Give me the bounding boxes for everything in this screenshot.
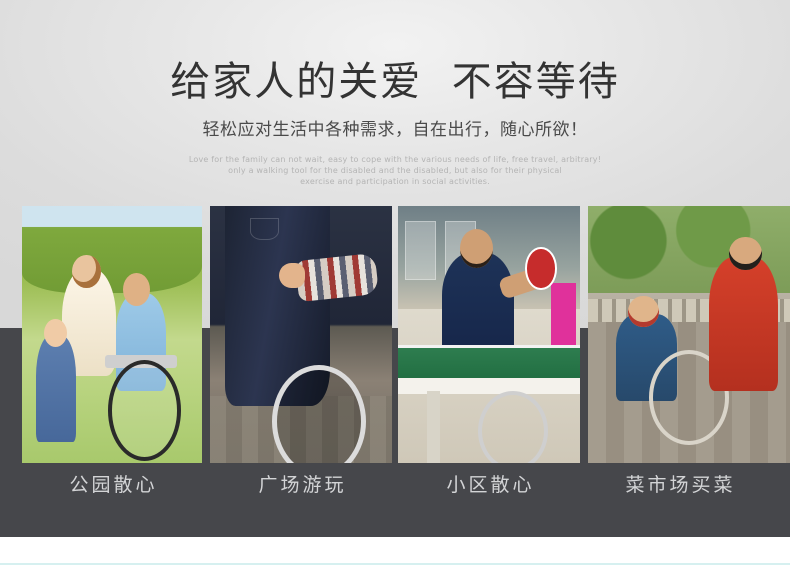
community-wheelchair-wheel [478, 391, 548, 463]
photo-plaza-helping-hand [210, 206, 392, 463]
banner-subtitle: 轻松应对生活中各种需求，自在出行，随心所欲！ [0, 106, 790, 142]
gallery-photo-plaza[interactable] [210, 206, 392, 463]
market-red-jacket-body [709, 257, 778, 391]
banner-english-description: Love for the family can not wait, easy t… [185, 142, 605, 187]
photo-park-family-wheelchair [22, 206, 202, 463]
caption-market: 菜市场买菜 [588, 471, 770, 499]
table-tennis-edge [398, 378, 580, 393]
table-leg [427, 391, 440, 463]
gallery-photo-market[interactable] [588, 206, 790, 463]
park-man-head [123, 273, 150, 306]
photo-market-street-walk [588, 206, 790, 463]
gallery-photo-community[interactable] [398, 206, 580, 463]
plaza-helping-hand [279, 263, 304, 289]
ping-pong-paddle [525, 247, 556, 290]
market-seated-person-head [628, 296, 658, 327]
photo-gallery [0, 206, 790, 463]
banner-title: 给家人的关爱 不容等待 [0, 0, 790, 106]
park-hedge [22, 227, 202, 294]
gallery-captions: 公园散心 广场游玩 小区散心 菜市场买菜 [0, 463, 790, 515]
shop-window-left [405, 221, 436, 280]
caption-park: 公园散心 [22, 471, 202, 499]
bottom-divider-rule [0, 563, 790, 565]
english-line-2: only a walking tool for the disabled and… [185, 165, 605, 176]
market-red-jacket-head [729, 237, 761, 270]
photo-table-tennis-player [398, 206, 580, 463]
plaza-striped-sleeve [295, 253, 379, 302]
promo-banner: 给家人的关爱 不容等待 轻松应对生活中各种需求，自在出行，随心所欲！ Love … [0, 0, 790, 567]
english-line-3: exercise and participation in social act… [185, 176, 605, 187]
park-girl-body [36, 335, 76, 443]
player-head [460, 229, 493, 268]
caption-community: 小区散心 [398, 471, 580, 499]
banner-header: 给家人的关爱 不容等待 轻松应对生活中各种需求，自在出行，随心所欲！ Love … [0, 0, 790, 187]
pink-banner [551, 283, 576, 350]
english-line-1: Love for the family can not wait, easy t… [185, 154, 605, 165]
plaza-jeans-pocket [250, 218, 279, 240]
park-girl-head [44, 319, 67, 347]
gallery-photo-park-散心[interactable] [22, 206, 202, 463]
plaza-wheelchair-wheel [272, 365, 366, 463]
caption-plaza: 广场游玩 [210, 471, 392, 499]
park-wheelchair-wheel [108, 360, 181, 461]
